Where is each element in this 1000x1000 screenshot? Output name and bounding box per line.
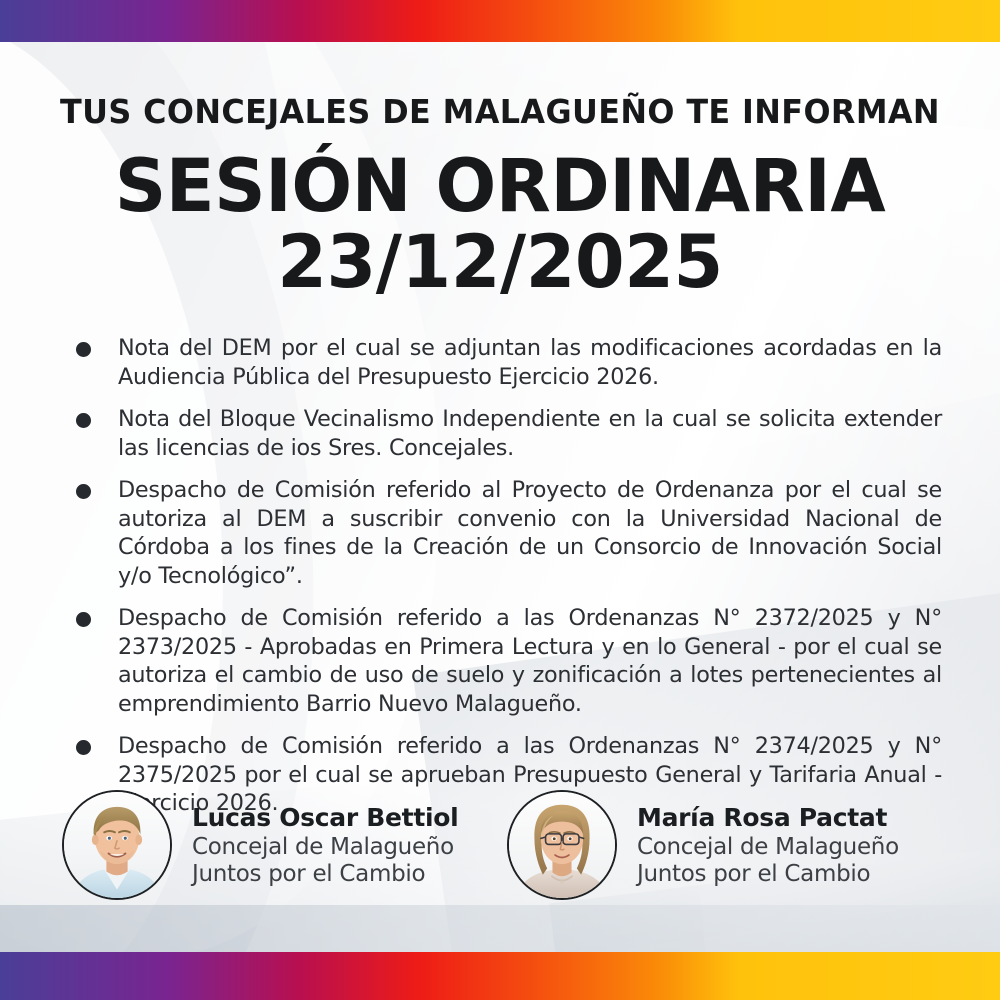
page-title-line-1: SESIÓN ORDINARIA: [10, 152, 990, 222]
bottom-gradient-bar: [0, 952, 1000, 1000]
poster-canvas: TUS CONCEJALES DE MALAGUEÑO TE INFORMAN …: [0, 0, 1000, 1000]
list-item-text: Nota del Bloque Vecinalismo Independient…: [118, 406, 942, 461]
list-item: Nota del Bloque Vecinalismo Independient…: [62, 405, 942, 462]
bullet-dot-icon: [76, 484, 91, 499]
page-kicker: TUS CONCEJALES DE MALAGUEÑO TE INFORMAN: [18, 92, 983, 131]
councillor-role: Concejal de Malagueño: [192, 834, 458, 861]
list-item: Despacho de Comisión referido a las Orde…: [62, 604, 942, 718]
list-item-text: Despacho de Comisión referido al Proyect…: [118, 477, 942, 589]
bullet-dot-icon: [76, 740, 91, 755]
councillor-party: Juntos por el Cambio: [192, 861, 458, 888]
councillor-card: María Rosa Pactat Concejal de Malagueño …: [507, 790, 952, 900]
list-item-text: Despacho de Comisión referido a las Orde…: [118, 605, 942, 717]
avatar: [507, 790, 617, 900]
page-title: SESIÓN ORDINARIA 23/12/2025: [0, 152, 1000, 298]
councillor-info: María Rosa Pactat Concejal de Malagueño …: [637, 803, 899, 887]
bullet-dot-icon: [76, 342, 91, 357]
list-item: Nota del DEM por el cual se adjuntan las…: [62, 334, 942, 391]
councillor-party: Juntos por el Cambio: [637, 861, 899, 888]
councillor-role: Concejal de Malagueño: [637, 834, 899, 861]
top-gradient-bar: [0, 0, 1000, 42]
councillor-name: María Rosa Pactat: [637, 803, 899, 832]
page-title-line-2: 23/12/2025: [10, 228, 990, 298]
agenda-list: Nota del DEM por el cual se adjuntan las…: [62, 334, 942, 818]
councillor-name: Lucas Oscar Bettiol: [192, 803, 458, 832]
councillor-card: Lucas Oscar Bettiol Concejal de Malagueñ…: [62, 790, 507, 900]
bullet-dot-icon: [76, 413, 91, 428]
poster-content: TUS CONCEJALES DE MALAGUEÑO TE INFORMAN …: [0, 0, 1000, 1000]
list-item: Despacho de Comisión referido al Proyect…: [62, 476, 942, 590]
councillors-row: Lucas Oscar Bettiol Concejal de Malagueñ…: [62, 790, 952, 900]
list-item-text: Nota del DEM por el cual se adjuntan las…: [118, 335, 942, 390]
avatar: [62, 790, 172, 900]
councillor-info: Lucas Oscar Bettiol Concejal de Malagueñ…: [192, 803, 458, 887]
bullet-dot-icon: [76, 612, 91, 627]
